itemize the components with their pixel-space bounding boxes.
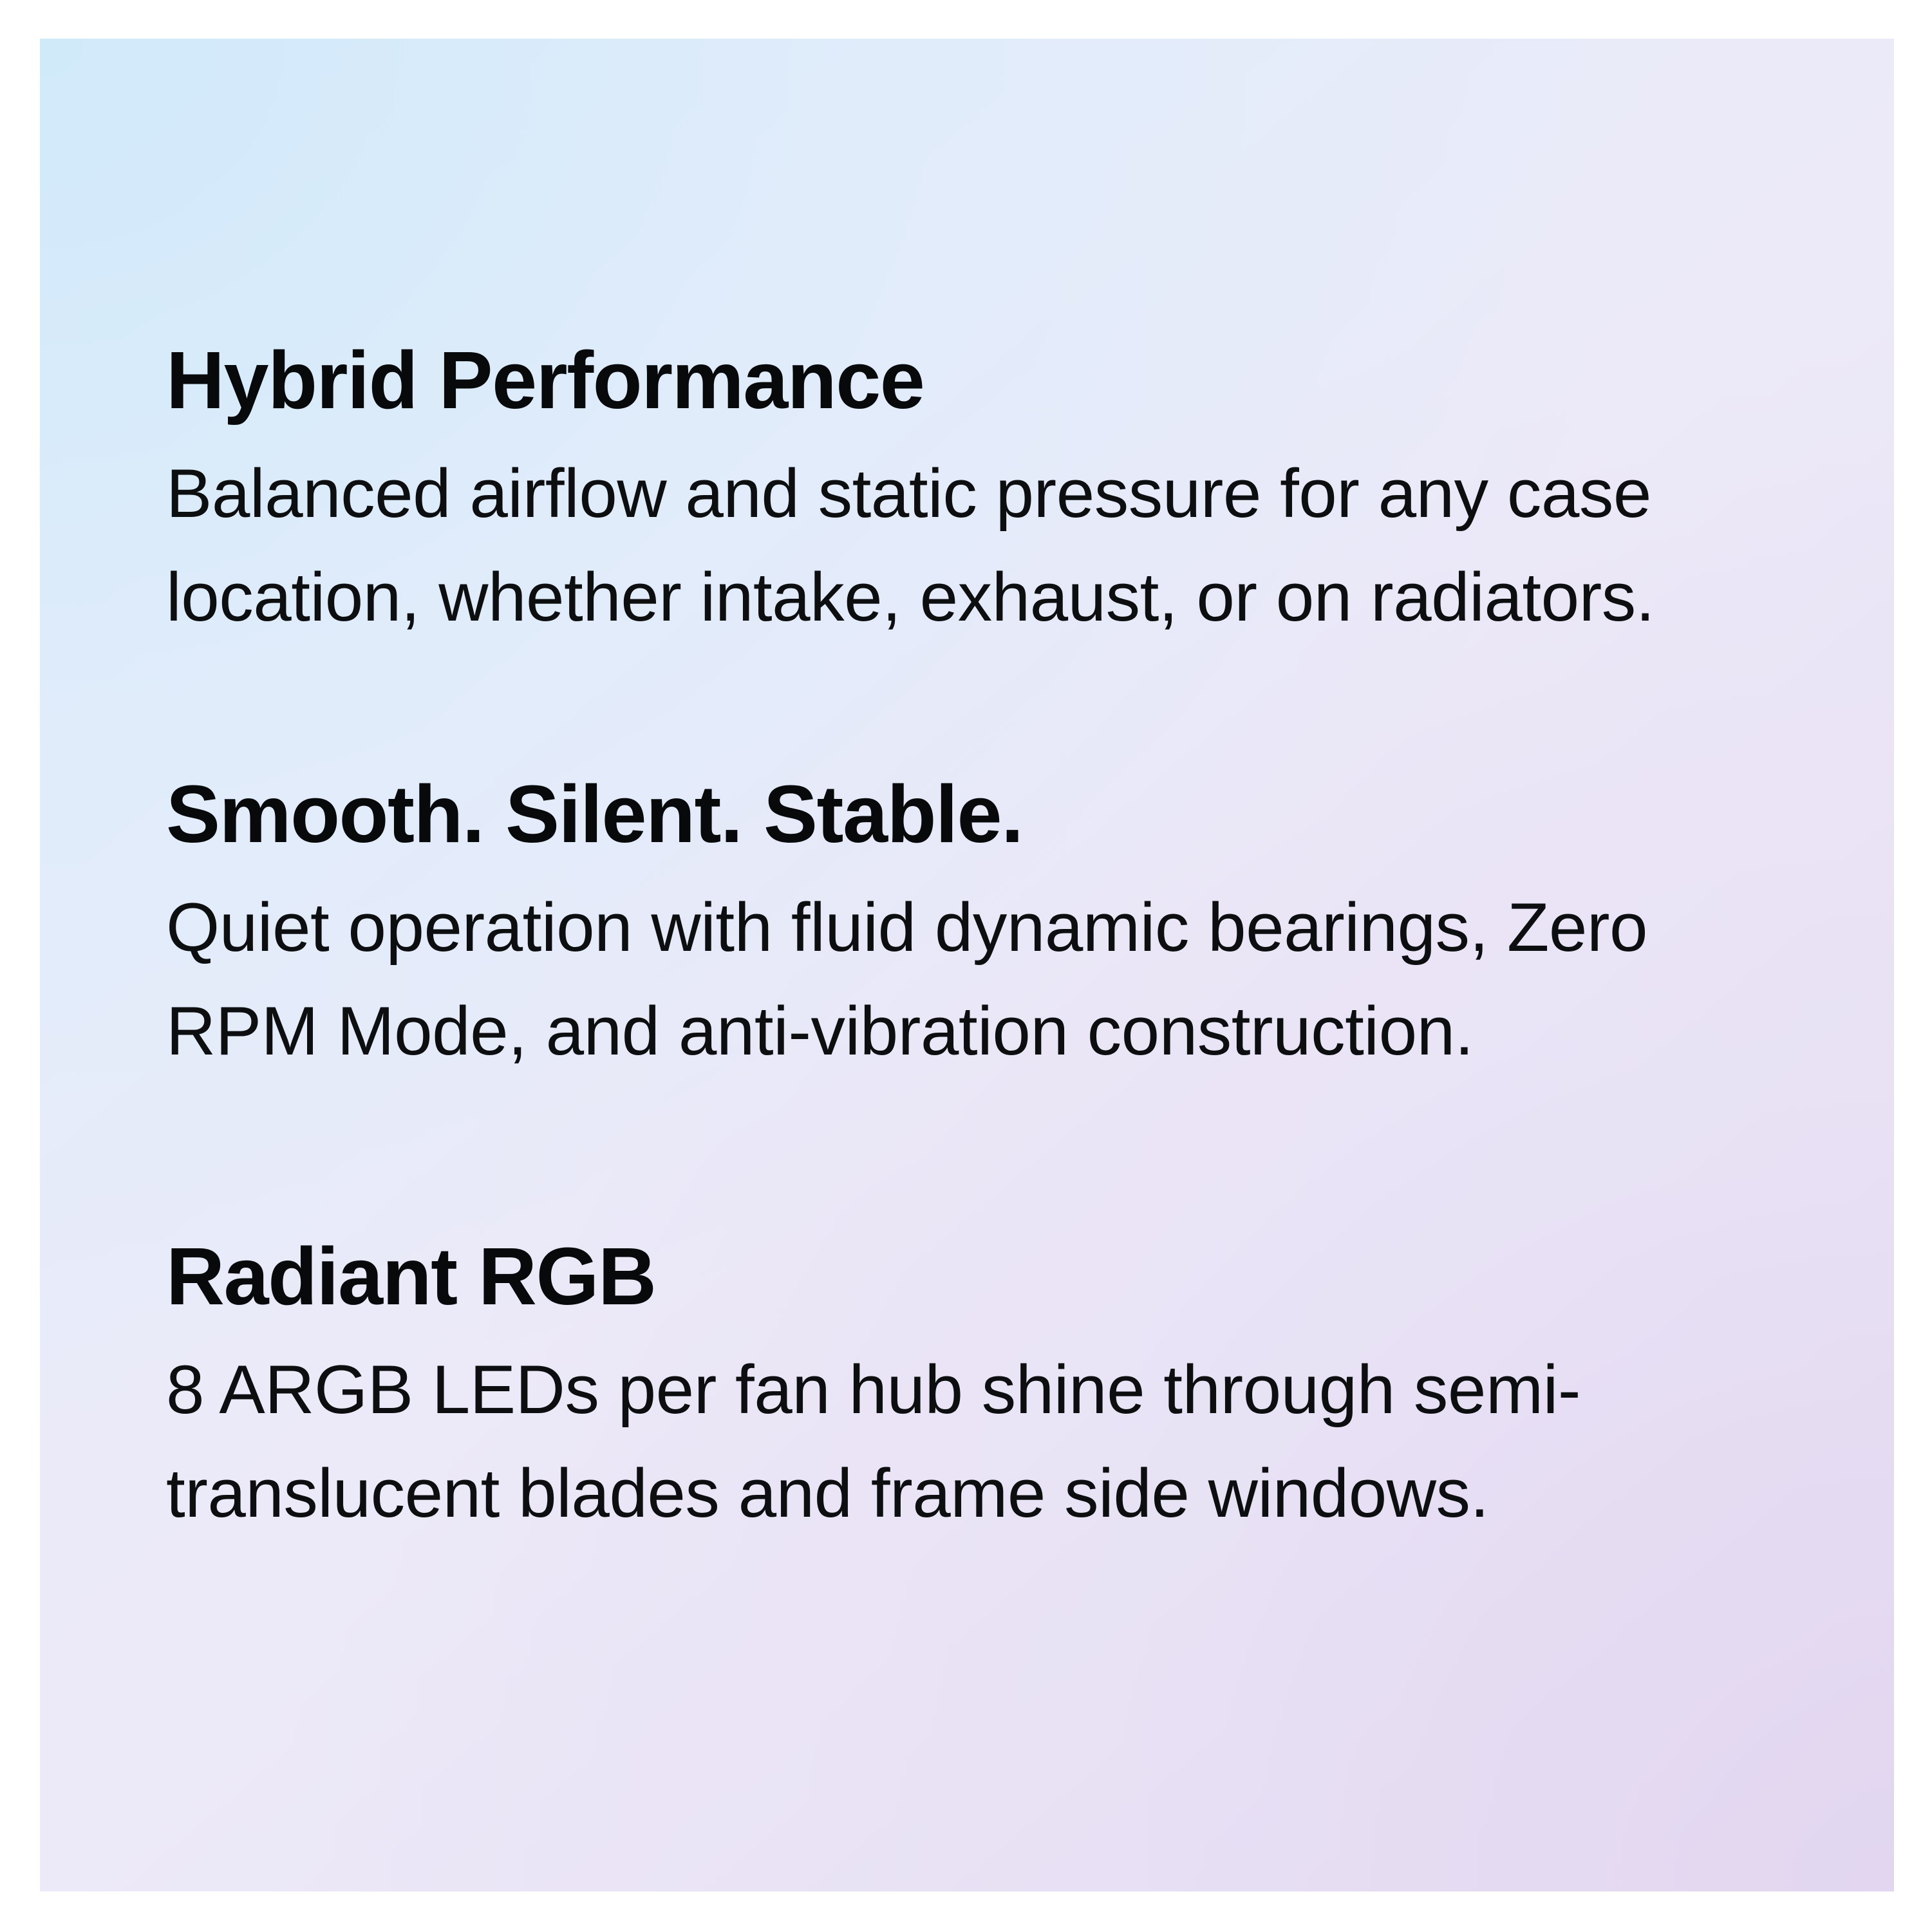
feature-body: Balanced airflow and static pressure for…: [166, 442, 1724, 648]
feature-heading: Hybrid Performance: [166, 340, 1724, 421]
feature-body-line: location, whether intake, exhaust, or on…: [166, 545, 1724, 649]
feature-block-smooth-silent-stable: Smooth. Silent. Stable. Quiet operation …: [166, 774, 1724, 1082]
feature-highlights-card: Hybrid Performance Balanced airflow and …: [40, 39, 1894, 1891]
feature-heading: Radiant RGB: [166, 1236, 1724, 1317]
feature-body: Quiet operation with fluid dynamic beari…: [166, 876, 1724, 1082]
feature-heading: Smooth. Silent. Stable.: [166, 774, 1724, 855]
feature-block-hybrid-performance: Hybrid Performance Balanced airflow and …: [166, 340, 1724, 648]
feature-block-radiant-rgb: Radiant RGB 8 ARGB LEDs per fan hub shin…: [166, 1236, 1724, 1544]
feature-body-line: translucent blades and frame side window…: [166, 1441, 1724, 1545]
feature-body-line: Quiet operation with fluid dynamic beari…: [166, 876, 1724, 979]
feature-body-line: 8 ARGB LEDs per fan hub shine through se…: [166, 1338, 1724, 1441]
feature-body-line: RPM Mode, and anti-vibration constructio…: [166, 979, 1724, 1083]
feature-body-line: Balanced airflow and static pressure for…: [166, 442, 1724, 545]
feature-body: 8 ARGB LEDs per fan hub shine through se…: [166, 1338, 1724, 1544]
